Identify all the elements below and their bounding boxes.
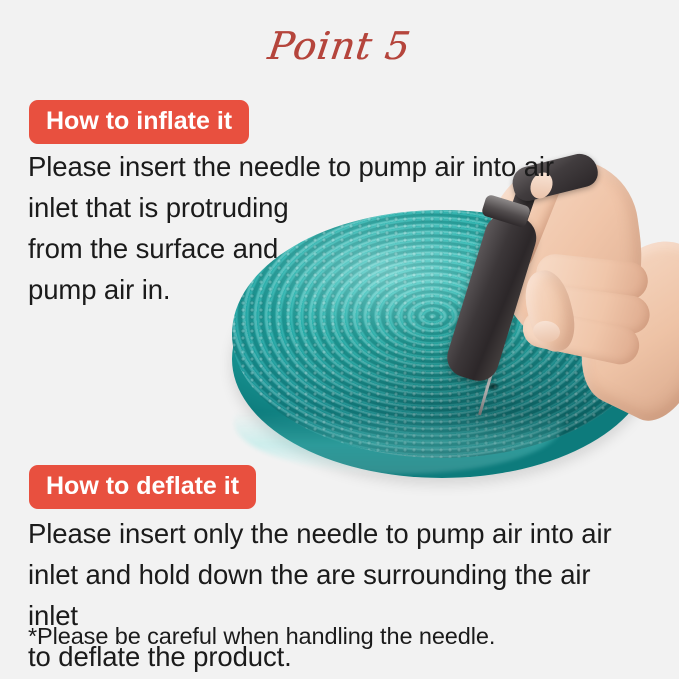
inflate-instructions-text: Please insert the needle to pump air int…	[28, 146, 588, 310]
disc-rim-highlight	[234, 370, 564, 474]
section-badge-deflate: How to deflate it	[29, 465, 256, 509]
deflate-instructions-text: Please insert only the needle to pump ai…	[28, 513, 628, 677]
safety-note: *Please be careful when handling the nee…	[28, 620, 495, 652]
page-title: Point 5	[0, 24, 679, 68]
section-badge-inflate: How to inflate it	[29, 100, 249, 144]
infographic-page: Point 5 How to inflate it Please insert …	[0, 0, 679, 679]
